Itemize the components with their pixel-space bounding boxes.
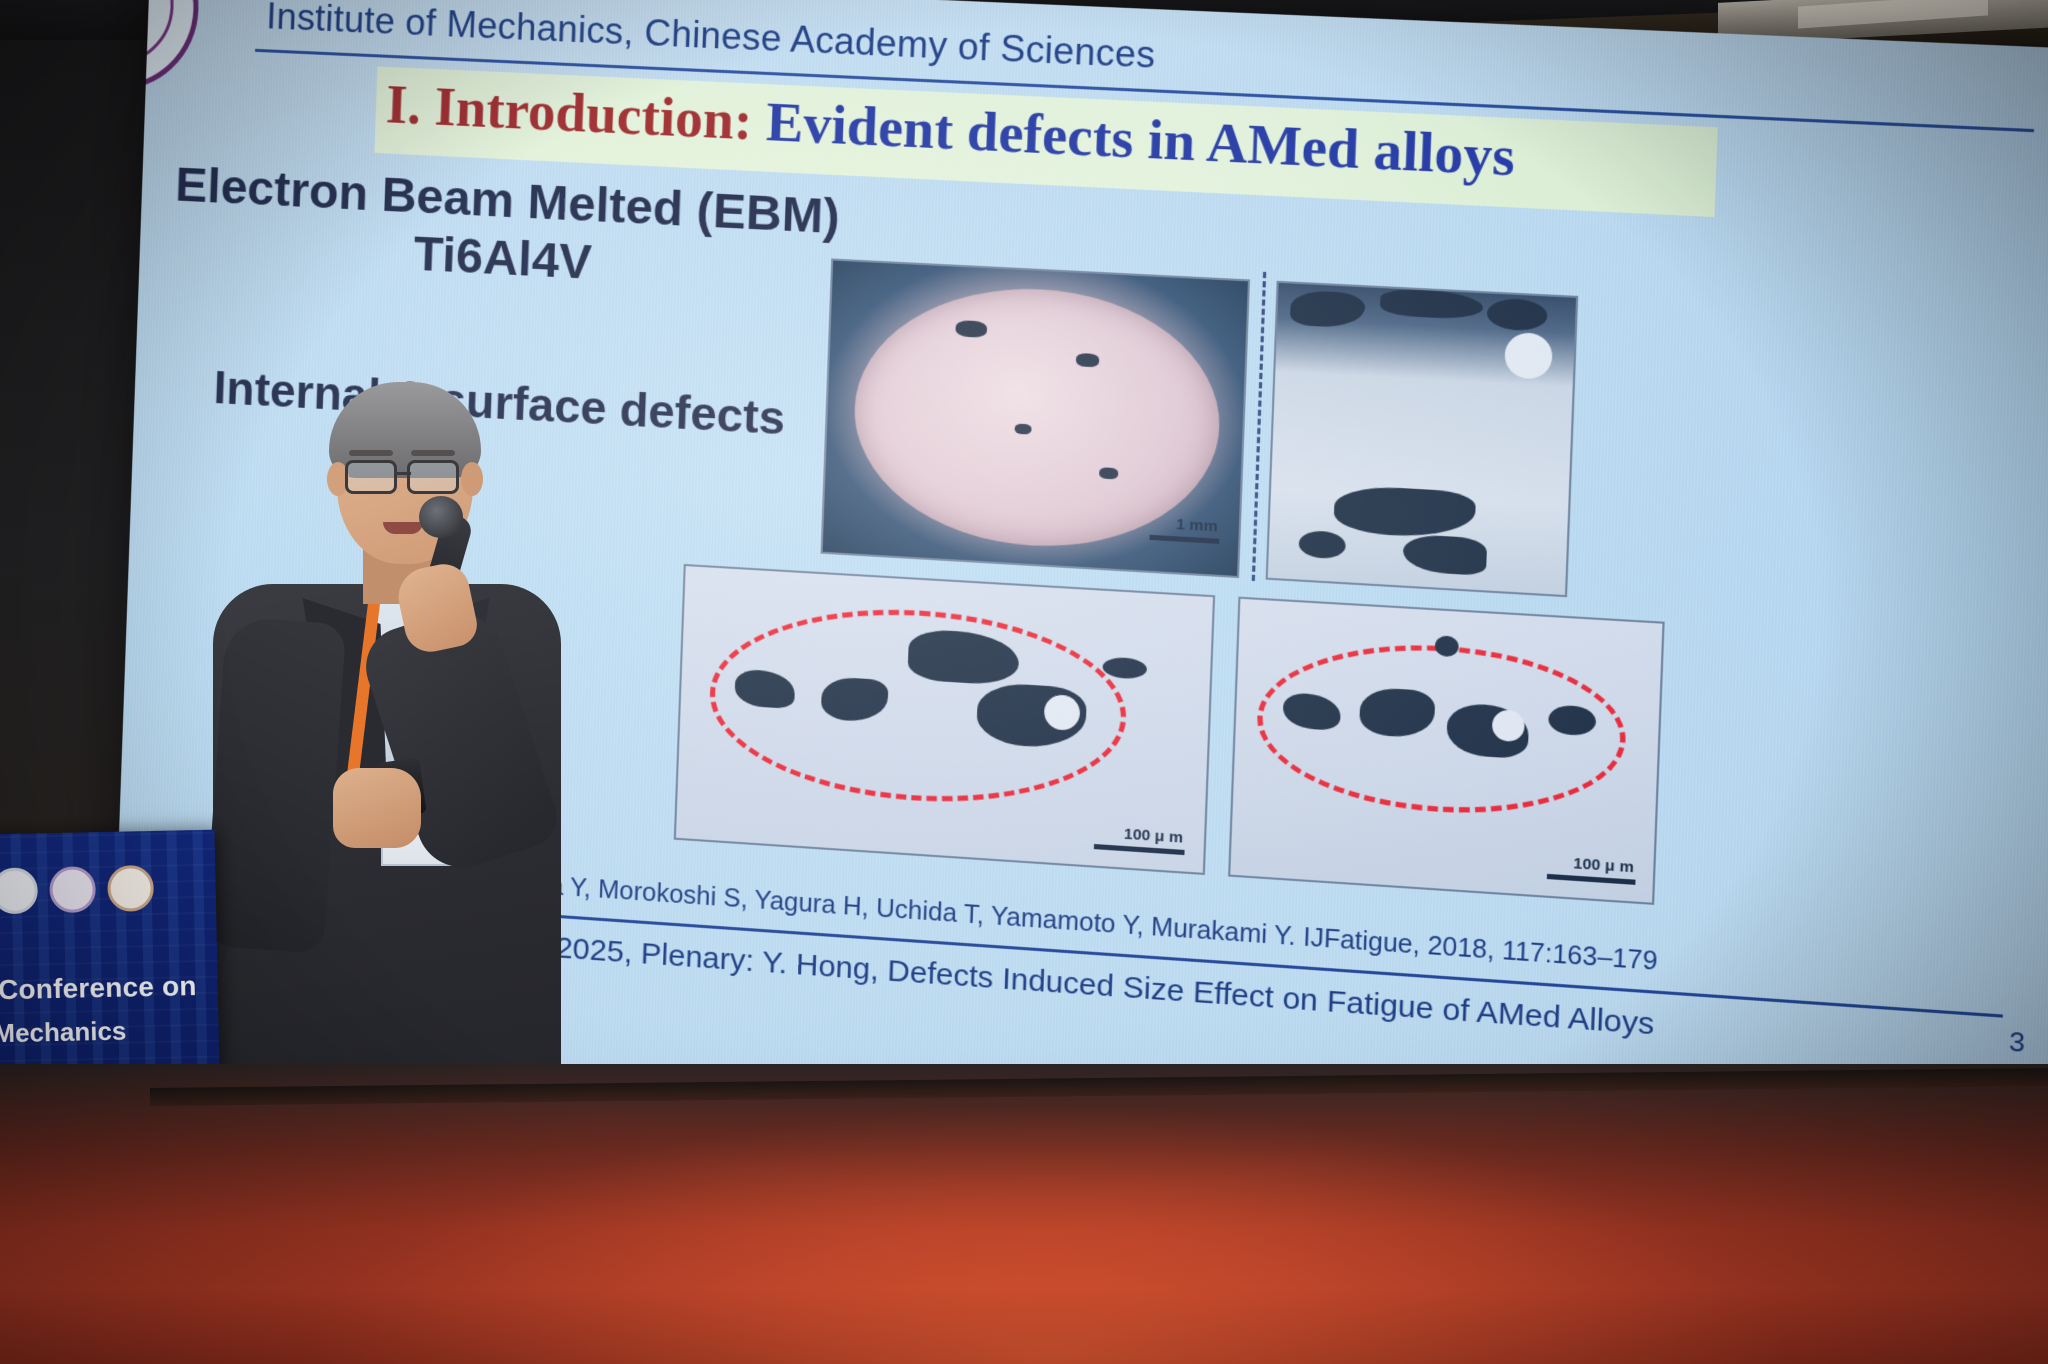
eyeglasses-lens-left — [345, 460, 397, 494]
lead-text-block: Electron Beam Melted (EBM) Ti6Al4V — [159, 157, 854, 306]
micrograph-internal-defects-left: 100 μ m — [674, 564, 1215, 875]
scalebar-line-a — [1149, 535, 1219, 544]
microphone-head-icon[interactable] — [419, 496, 463, 538]
presentation-photo-scene: Institute of Mechanics, Chinese Academy … — [0, 0, 2048, 1364]
micrograph-divider — [1252, 272, 1267, 581]
slide-header: Institute of Mechanics, Chinese Academy … — [266, 0, 1156, 77]
speaker-mouth — [383, 522, 423, 534]
micrograph-surface-defects — [1266, 281, 1579, 597]
scalebar-label-d: 100 μ m — [1573, 855, 1634, 877]
micrograph-internal-defects-right: 100 μ m — [1228, 597, 1665, 905]
speaker-brow-left — [349, 450, 393, 456]
stage-floor-glow — [300, 1104, 1800, 1364]
university-seal-3-icon — [107, 865, 154, 912]
speaker-arm-left — [204, 616, 347, 954]
speaker-hand-left — [333, 768, 421, 848]
eyeglasses-lens-right — [407, 460, 459, 494]
scalebar-label-a: 1 mm — [1176, 516, 1218, 536]
micrograph-cross-section: 1 mm — [820, 258, 1250, 578]
banner-logo-row — [0, 864, 212, 931]
speaker-brow-right — [411, 450, 455, 456]
speaker-ear-right — [461, 462, 483, 496]
unsw-seal-icon — [49, 866, 96, 913]
specimen-cross-section — [850, 280, 1224, 556]
scalebar-label-c: 100 μ m — [1124, 825, 1184, 846]
eyeglasses-bridge — [397, 472, 411, 475]
university-seal-1-icon — [0, 867, 38, 914]
banner-title-line-2: ect Mechanics — [0, 1014, 219, 1051]
banner-title-line-1: onal Conference on — [0, 970, 222, 1008]
slide-page-number: 3 — [2008, 1026, 2025, 1060]
